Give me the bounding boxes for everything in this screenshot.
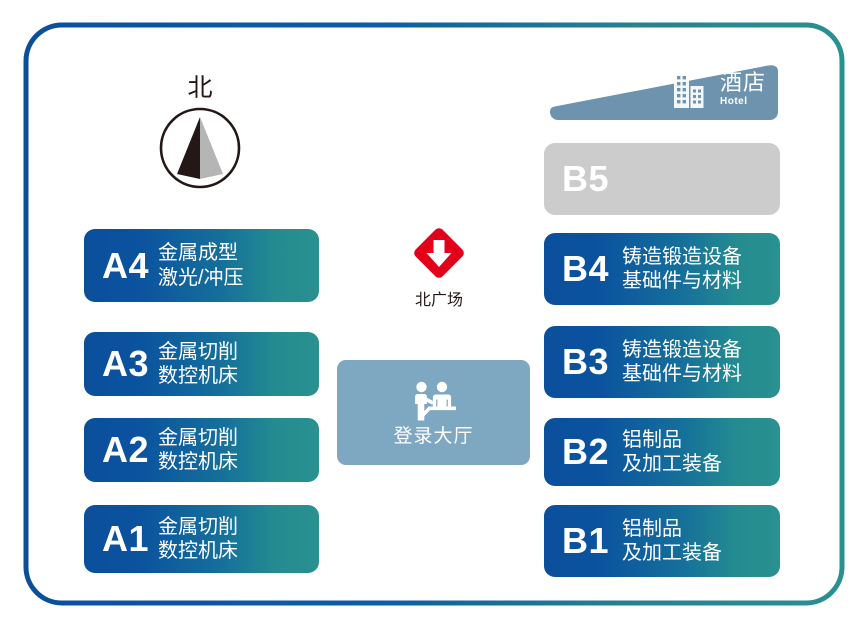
hall-block-b1[interactable]: B1 铝制品 及加工装备 bbox=[544, 505, 780, 577]
hall-code-b5: B5 bbox=[544, 161, 622, 197]
reception-desk-people-icon bbox=[408, 380, 460, 425]
red-diamond-down-arrow-icon bbox=[408, 222, 470, 284]
hall-desc-b3: 铸造锻造设备 基础件与材料 bbox=[622, 338, 742, 387]
hall-block-a3[interactable]: A3 金属切削 数控机床 bbox=[84, 332, 319, 396]
hotel-block[interactable]: 酒店 Hotel bbox=[544, 62, 780, 121]
hotel-label-cn: 酒店 bbox=[720, 71, 766, 94]
compass-north-arrow-icon bbox=[158, 106, 242, 190]
hall-code-a3: A3 bbox=[84, 346, 158, 382]
registration-hall-block[interactable]: 登录大厅 bbox=[337, 360, 530, 465]
hall-desc-b4: 铸造锻造设备 基础件与材料 bbox=[622, 245, 742, 294]
hotel-buildings-icon bbox=[668, 65, 714, 113]
hall-code-a4: A4 bbox=[84, 248, 158, 284]
hall-code-b2: B2 bbox=[544, 434, 622, 470]
hall-block-a4[interactable]: A4 金属成型 激光/冲压 bbox=[84, 229, 319, 302]
hall-code-b1: B1 bbox=[544, 523, 622, 559]
compass: 北 bbox=[148, 75, 252, 205]
hall-block-b2[interactable]: B2 铝制品 及加工装备 bbox=[544, 418, 780, 486]
hotel-label-en: Hotel bbox=[720, 97, 748, 107]
hall-code-b4: B4 bbox=[544, 251, 622, 287]
hall-code-b3: B3 bbox=[544, 344, 622, 380]
exhibition-floor-plan: 北 北广场 登录大厅 bbox=[0, 0, 868, 627]
hall-desc-a3: 金属切削 数控机床 bbox=[158, 340, 238, 389]
compass-label: 北 bbox=[148, 75, 252, 100]
hall-desc-b2: 铝制品 及加工装备 bbox=[622, 428, 722, 477]
hall-desc-a4: 金属成型 激光/冲压 bbox=[158, 241, 244, 290]
hall-code-a2: A2 bbox=[84, 432, 158, 468]
hall-desc-a2: 金属切削 数控机床 bbox=[158, 426, 238, 475]
hall-block-a2[interactable]: A2 金属切削 数控机床 bbox=[84, 418, 319, 482]
hall-block-b5[interactable]: B5 bbox=[544, 143, 780, 215]
north-plaza-marker: 北广场 bbox=[374, 222, 504, 309]
hall-block-b4[interactable]: B4 铸造锻造设备 基础件与材料 bbox=[544, 233, 780, 305]
hall-desc-a1: 金属切削 数控机床 bbox=[158, 515, 238, 564]
hall-desc-b1: 铝制品 及加工装备 bbox=[622, 517, 722, 566]
hall-block-b3[interactable]: B3 铸造锻造设备 基础件与材料 bbox=[544, 326, 780, 398]
registration-hall-label: 登录大厅 bbox=[393, 427, 473, 446]
hall-block-a1[interactable]: A1 金属切削 数控机床 bbox=[84, 505, 319, 573]
hall-code-a1: A1 bbox=[84, 521, 158, 557]
north-plaza-label: 北广场 bbox=[374, 293, 504, 309]
